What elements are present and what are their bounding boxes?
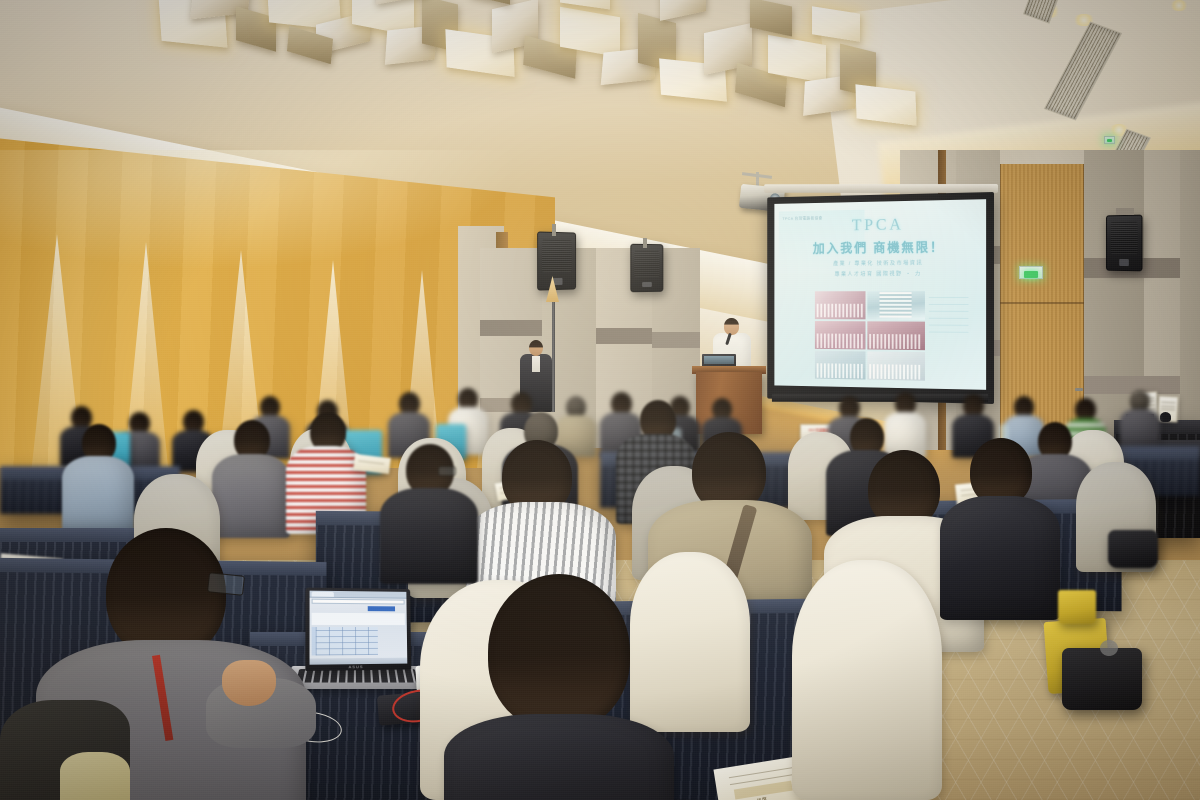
far-right-wall: [1180, 150, 1200, 450]
slide-subtitle: 加入我們 商機無限！: [813, 237, 945, 257]
attendee-dark-tshirt-glasses: [380, 444, 478, 574]
exit-sign-icon: [1019, 266, 1043, 279]
pa-speaker-right: [1106, 215, 1143, 272]
banquet-chair[interactable]: [792, 560, 942, 800]
attendee-dark-hair-foreground: [444, 574, 674, 800]
speaker-bracket: [643, 238, 647, 248]
speaker-bracket: [1116, 208, 1134, 215]
conference-hall-photo: TPCA 台灣電路板協會 TPCA 加入我們 商機無限！ 產業 / 專業化 技術…: [0, 0, 1200, 800]
laptop-keyboard[interactable]: [296, 669, 418, 682]
page-header-area: [312, 613, 405, 625]
slide-photo: [867, 351, 924, 381]
slide-title: TPCA: [852, 215, 904, 235]
screen-surface: TPCA 台灣電路板協會 TPCA 加入我們 商機無限！ 產業 / 專業化 技術…: [774, 199, 986, 390]
laptop-lid: ASUS: [305, 588, 411, 671]
pa-speaker-center: [630, 244, 663, 292]
door-handle-icon[interactable]: [1075, 388, 1083, 391]
eyeglasses-icon: [207, 572, 245, 596]
slide-content: TPCA 台灣電路板協會 TPCA 加入我們 商機無限！ 產業 / 專業化 技術…: [774, 199, 986, 390]
downlight-icon: [1169, 0, 1189, 11]
slide-photo: [815, 351, 866, 380]
slide-header-note: TPCA 台灣電路板協會: [782, 216, 822, 222]
attendee-light-blue-shirt: [62, 424, 134, 530]
screen-roller-housing: [764, 184, 998, 193]
black-handbag: [1108, 530, 1158, 568]
screen-frame: TPCA 台灣電路板協會 TPCA 加入我們 商機無限！ 產業 / 專業化 技術…: [767, 192, 994, 404]
attendee-grey-polo: [212, 420, 290, 532]
spreadsheet-grid[interactable]: [316, 627, 378, 655]
exit-sign-icon: [1104, 136, 1115, 144]
pa-speaker-left: [537, 231, 576, 290]
slide-decor-lines: [929, 295, 968, 333]
browser-url-bar[interactable]: [312, 599, 405, 605]
slide-photo: [815, 321, 866, 350]
slide-photo: [815, 291, 866, 320]
browser-chrome: [310, 591, 407, 599]
hands: [222, 660, 276, 706]
slide-bullet-1: 產業 / 專業化 技術及市場資訊: [833, 259, 923, 268]
speaker-bracket: [552, 224, 556, 236]
attendee-black-top: [940, 438, 1060, 608]
back-table-object: [1160, 412, 1171, 422]
laptop-display: [310, 591, 408, 665]
selected-cell: [368, 606, 395, 611]
slide-bullet-2: 專業人才培育 國際視野 ‧ 力: [834, 269, 921, 277]
yellow-tote-bag: [1058, 590, 1096, 624]
attendee-laptop[interactable]: ASUS: [292, 588, 422, 700]
slide-photo: [867, 321, 924, 350]
laptop-brand-label: ASUS: [349, 664, 364, 669]
slide-photo-collage: [815, 291, 925, 381]
browser-tab[interactable]: [312, 592, 334, 597]
black-handbag: [1062, 648, 1142, 710]
bag-clasp-icon: [1100, 640, 1118, 656]
foreground-person-arm: [60, 752, 130, 800]
left-wall-light-wash: [0, 150, 520, 270]
eyeglasses-icon: [438, 466, 456, 476]
slide-photo: [867, 291, 924, 320]
